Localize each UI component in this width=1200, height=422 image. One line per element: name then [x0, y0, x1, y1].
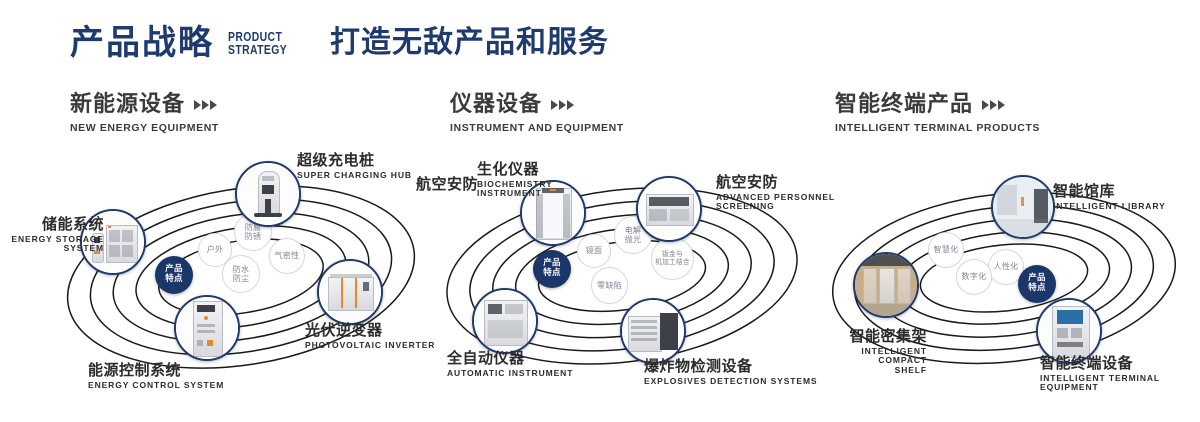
section-title-en: INSTRUMENT AND EQUIPMENT: [450, 122, 624, 134]
explosives-detector-image: [622, 300, 684, 362]
chevron-right-icon: [551, 100, 574, 110]
personnel-screening-image: [638, 178, 700, 240]
keyword-bubble: 气密性: [269, 238, 305, 274]
keyword-bubble: 零缺陷: [591, 267, 628, 304]
product-label-automatic-instrument: 全自动仪器 AUTOMATIC INSTRUMENT: [447, 350, 573, 378]
section-title-en: INTELLIGENT TERMINAL PRODUCTS: [835, 122, 1040, 134]
page-title-en: PRODUCT STRATEGY: [228, 30, 287, 60]
section-title-cn: 仪器设备: [450, 94, 542, 116]
keyword-bubble: 防水 防尘: [222, 255, 260, 293]
section-title-cn: 智能终端产品: [835, 94, 973, 116]
compact-shelf-image: [855, 254, 917, 316]
terminal-kiosk-image: [1038, 300, 1100, 362]
product-label-photovoltaic-inverter: 光伏逆变器 PHOTOVOLTAIC INVERTER: [305, 322, 435, 350]
product-label-energy-storage: 储能系统 ENERGY STORAGE SYSTEM: [0, 216, 104, 254]
product-node-automatic-instrument[interactable]: [472, 288, 538, 354]
page-title-cn: 产品战略: [70, 26, 214, 60]
product-label-security-gate: 航空安防: [398, 176, 478, 193]
photovoltaic-inverter-image: [319, 261, 381, 323]
section-heading-terminal: 智能终端产品 INTELLIGENT TERMINAL PRODUCTS: [835, 94, 1040, 134]
energy-control-cabinet-image: [176, 297, 238, 359]
section-title-en: NEW ENERGY EQUIPMENT: [70, 122, 219, 134]
product-node-intelligent-library[interactable]: [991, 175, 1055, 239]
chevron-right-icon: [982, 100, 1005, 110]
product-node-personnel-screening[interactable]: [636, 176, 702, 242]
product-label-biochemistry-instrument: 生化仪器 BIOCHEMISTRY INSTRUMENT: [477, 161, 553, 199]
product-node-photovoltaic-inverter[interactable]: [317, 259, 383, 325]
section-heading-instrument: 仪器设备 INSTRUMENT AND EQUIPMENT: [450, 94, 624, 134]
product-label-explosives-detection: 爆炸物检测设备 EXPLOSIVES DETECTION SYSTEMS: [644, 358, 818, 386]
keyword-bubble: 钣金与 机加工结合: [651, 237, 694, 280]
product-node-energy-control-system[interactable]: [174, 295, 240, 361]
center-badge: 产品 特点: [533, 250, 571, 288]
cluster-new-energy-equipment: 产品 特点 户外 防腐 防锈 防水 防尘 气密性: [45, 155, 435, 390]
page-title: 产品战略 PRODUCT STRATEGY: [70, 26, 302, 60]
keyword-bubble: 智慧化: [928, 232, 964, 268]
page-subtitle: 打造无敌产品和服务: [330, 28, 609, 58]
product-label-intelligent-library: 智能馆库 INTELLIGENT LIBRARY: [1053, 183, 1166, 211]
chevron-right-icon: [194, 100, 217, 110]
product-label-energy-control-system: 能源控制系统 ENERGY CONTROL SYSTEM: [88, 362, 224, 390]
product-node-compact-shelf[interactable]: [853, 252, 919, 318]
product-label-compact-shelf: 智能密集架 INTELLIGENT COMPACT SHELF: [810, 328, 927, 375]
product-node-explosives-detector[interactable]: [620, 298, 686, 364]
super-charging-hub-image: [237, 163, 299, 225]
automatic-instrument-image: [474, 290, 536, 352]
intelligent-library-image: [993, 177, 1053, 237]
poster-canvas: 产品战略 PRODUCT STRATEGY 打造无敌产品和服务 新能源设备 NE…: [0, 0, 1200, 422]
section-title-cn: 新能源设备: [70, 94, 185, 116]
product-label-super-charging-hub: 超级充电桩 SUPER CHARGING HUB: [297, 152, 412, 180]
product-label-terminal-equipment: 智能终端设备 INTELLIGENT TERMINAL EQUIPMENT: [1040, 355, 1200, 393]
product-node-super-charging-hub[interactable]: [235, 161, 301, 227]
center-badge: 产品 特点: [1018, 265, 1056, 303]
center-badge: 产品 特点: [155, 256, 193, 294]
section-heading-new-energy: 新能源设备 NEW ENERGY EQUIPMENT: [70, 94, 219, 134]
keyword-bubble: 数字化: [956, 259, 992, 295]
